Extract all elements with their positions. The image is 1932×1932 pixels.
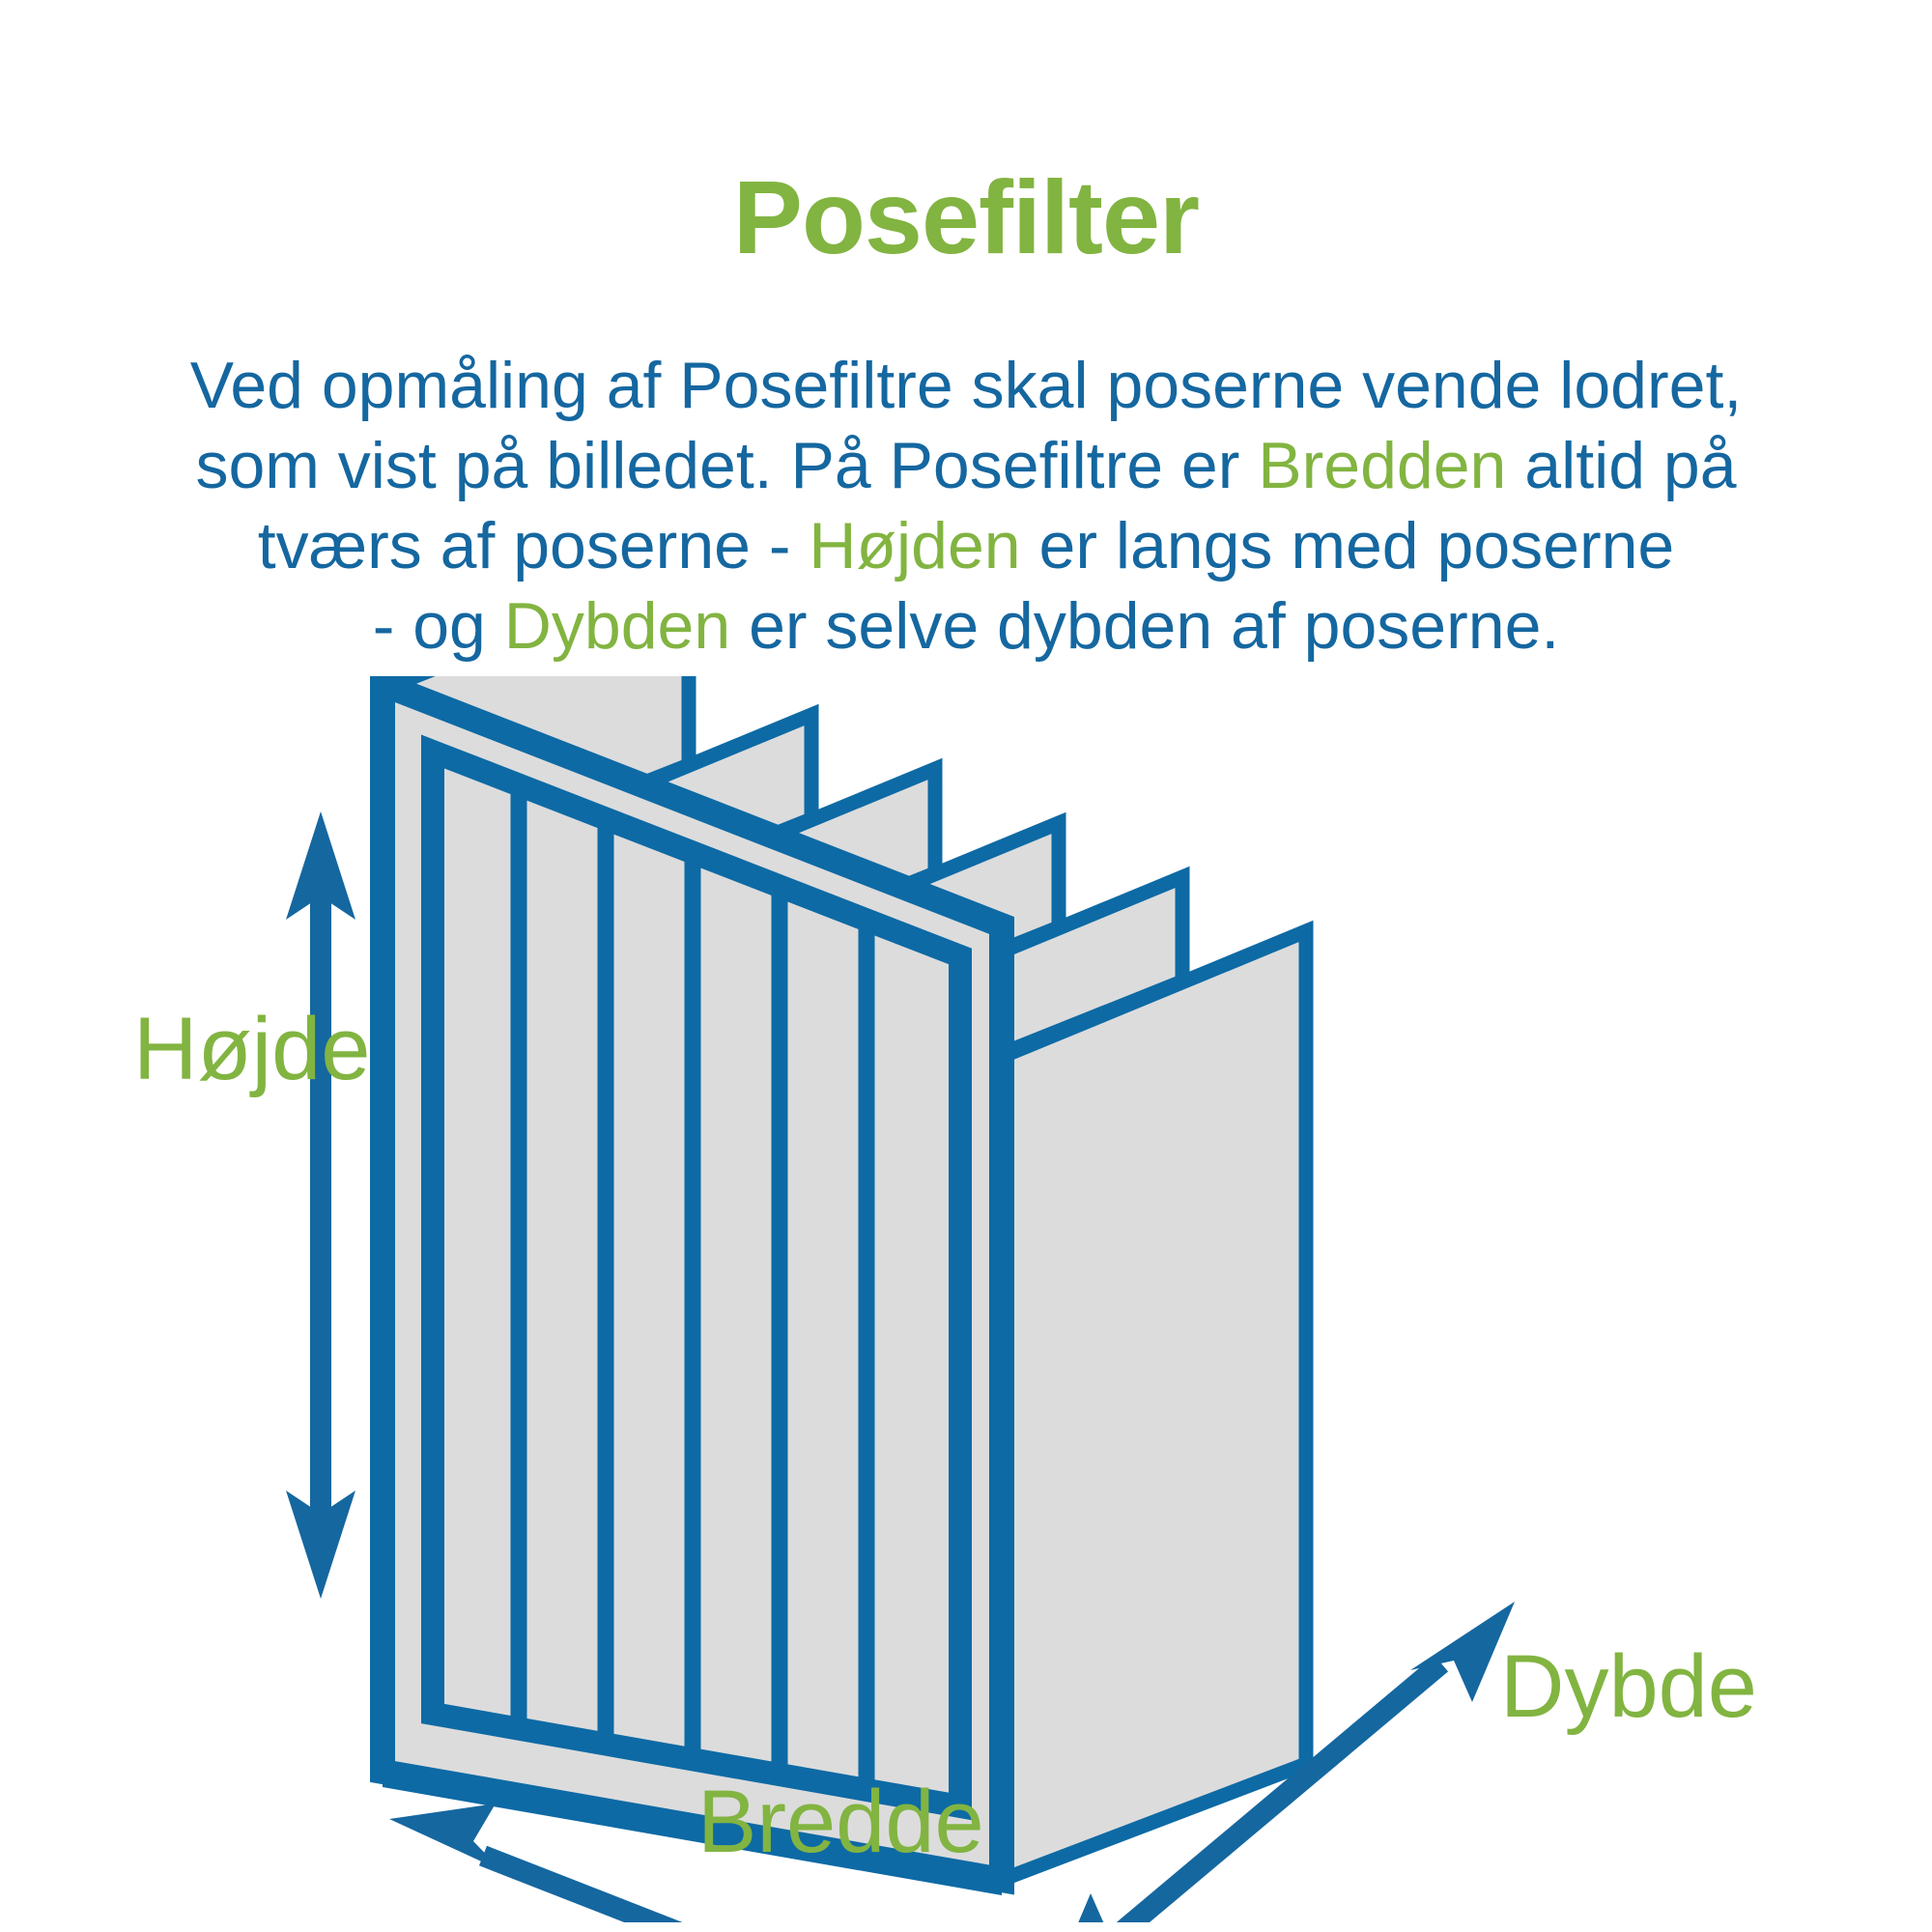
width-arrow-head-left — [389, 1804, 502, 1871]
page-title: Posefilter — [0, 162, 1932, 271]
dimension-label-depth: Dybde — [1500, 1642, 1757, 1731]
intro-line-4-pre: - og — [373, 589, 504, 663]
intro-highlight-dybden: Dybden — [504, 589, 730, 663]
right-side-face — [1002, 931, 1306, 1880]
intro-line-1: Ved opmåling af Posefiltre skal poserne … — [190, 349, 1743, 422]
intro-highlight-hojden: Højden — [809, 509, 1020, 582]
intro-line-3-pre: tværs af poserne - — [258, 509, 810, 582]
intro-paragraph: Ved opmåling af Posefiltre skal poserne … — [87, 346, 1845, 667]
height-dimension-arrow — [286, 811, 355, 1599]
intro-line-3-post: er langs med poserne — [1021, 509, 1675, 582]
intro-highlight-bredden: Bredden — [1258, 429, 1506, 502]
filter-right-side-panel — [1002, 931, 1306, 1880]
intro-line-2-post: altid på — [1506, 429, 1736, 502]
intro-line-2-pre: som vist på billedet. På Posefiltre er — [195, 429, 1258, 502]
dimension-label-height: Højde — [133, 1005, 370, 1094]
intro-line-4-post: er selve dybden af poserne. — [730, 589, 1559, 663]
dimension-label-width: Bredde — [697, 1777, 984, 1866]
page-root: Posefilter Ved opmåling af Posefiltre sk… — [0, 0, 1932, 1932]
